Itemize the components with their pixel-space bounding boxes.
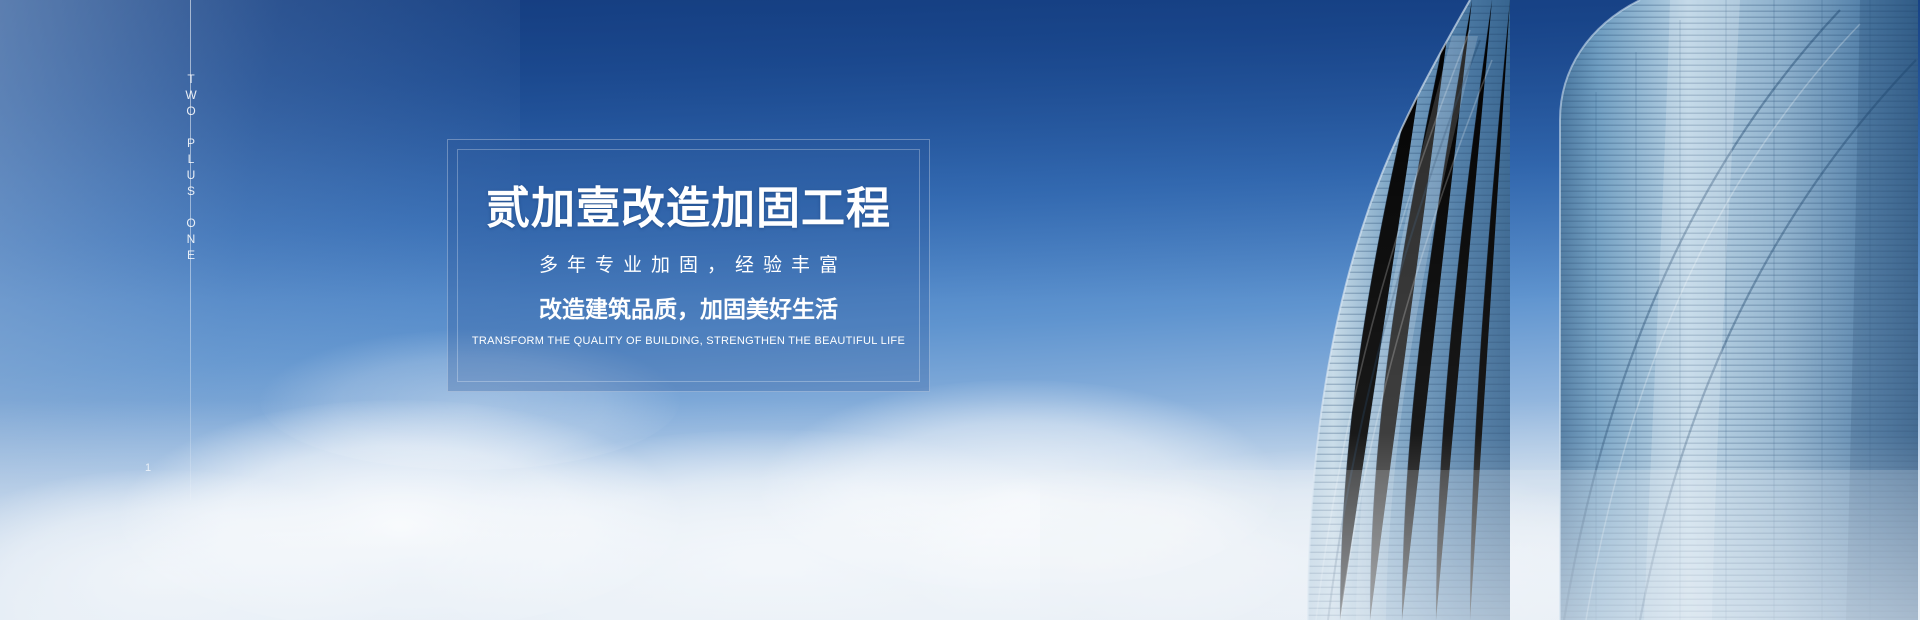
hero-text-panel-inner-border: 贰加壹改造加固工程 多年专业加固，经验丰富 改造建筑品质，加固美好生活 TRAN… xyxy=(457,149,920,382)
hero-text-panel: 贰加壹改造加固工程 多年专业加固，经验丰富 改造建筑品质，加固美好生活 TRAN… xyxy=(447,139,930,392)
slide-number: 1 xyxy=(142,462,154,475)
page-title: 贰加壹改造加固工程 xyxy=(486,187,891,231)
slogan: 改造建筑品质，加固美好生活 xyxy=(539,298,838,321)
skyscraper-illustration xyxy=(1040,0,1920,620)
english-tagline: TRANSFORM THE QUALITY OF BUILDING, STREN… xyxy=(472,336,905,347)
subtitle: 多年专业加固，经验丰富 xyxy=(530,256,847,275)
vertical-brand-text: TWO PLUS ONE xyxy=(177,72,203,264)
hero-banner: TWO PLUS ONE 1 贰加壹改造加固工程 多年专业加固，经验丰富 改造建… xyxy=(0,0,1920,620)
